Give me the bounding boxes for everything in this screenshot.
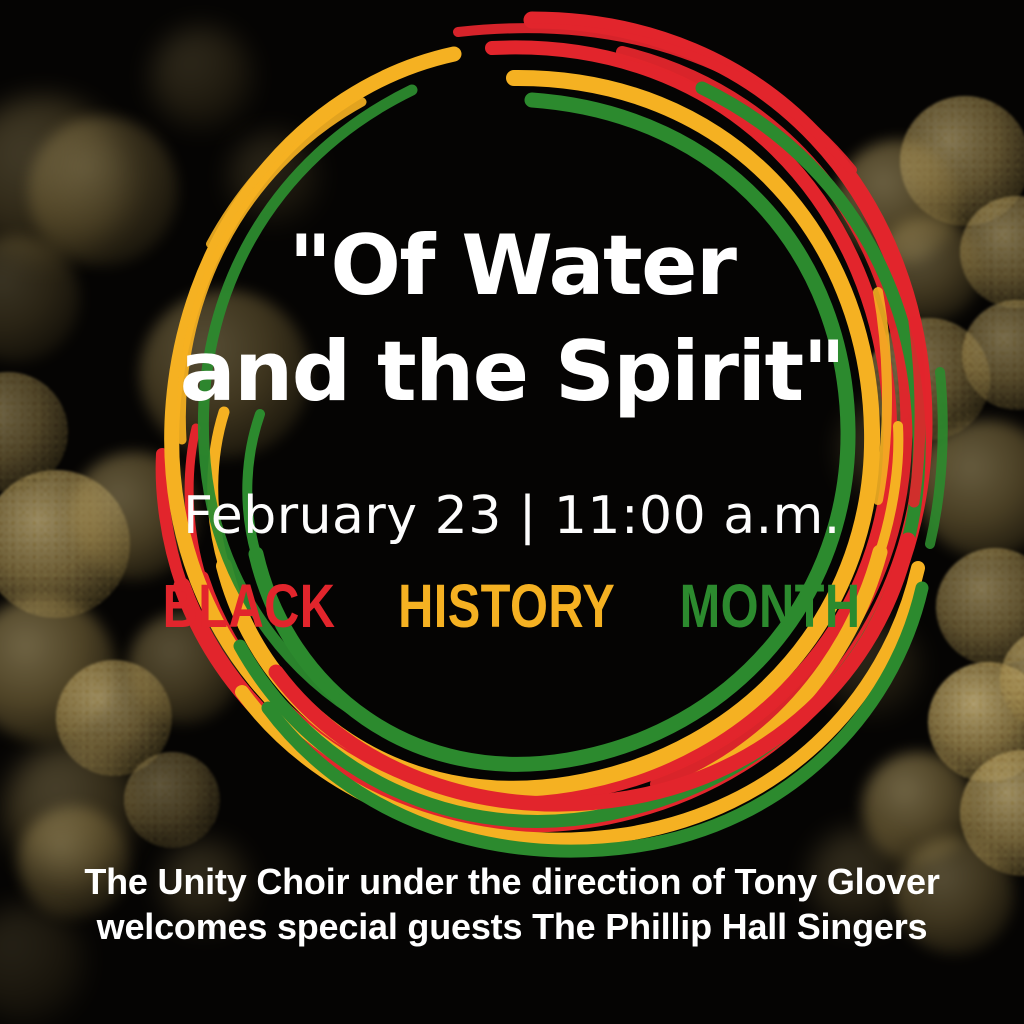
- bhm-word-history: HISTORY: [398, 571, 615, 641]
- black-history-month-poster: "Of Water and the Spirit" February 23 | …: [0, 0, 1024, 1024]
- footer-line-1: The Unity Choir under the direction of T…: [0, 861, 1024, 903]
- poster-content: "Of Water and the Spirit" February 23 | …: [0, 0, 1024, 1024]
- bhm-word-month: MONTH: [679, 571, 860, 641]
- poster-title-line-2: and the Spirit": [0, 330, 1024, 413]
- event-date-time: February 23 | 11:00 a.m.: [0, 486, 1024, 546]
- black-history-month-heading: BLACKHISTORYMONTH: [0, 571, 1024, 641]
- footer-line-2: welcomes special guests The Phillip Hall…: [0, 906, 1024, 948]
- poster-title-line-1: "Of Water: [0, 224, 1024, 307]
- bhm-word-black: BLACK: [163, 571, 336, 641]
